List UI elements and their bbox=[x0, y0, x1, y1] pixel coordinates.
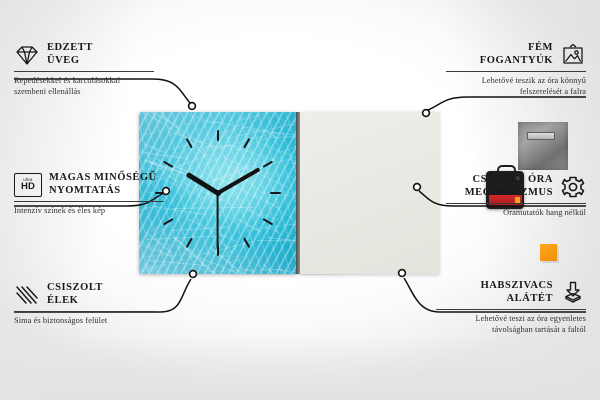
clock-tick-mark bbox=[217, 130, 219, 141]
callout-header: HABSZIVACS ALÁTÉT bbox=[436, 280, 586, 305]
callout-divider bbox=[14, 201, 164, 202]
callout-divider bbox=[14, 311, 154, 312]
callout-header: FÉM FOGANTYÚK bbox=[446, 42, 586, 67]
polished-edge-icon bbox=[14, 283, 40, 307]
callout-header: CSENDES ÓRA MECHANIZMUS bbox=[446, 174, 586, 199]
callout-subtitle: Repedésekkel és karcolásokkal szembeni e… bbox=[14, 76, 154, 97]
clock-tick-mark bbox=[185, 138, 192, 149]
callout-title: CSENDES ÓRA MECHANIZMUS bbox=[465, 174, 553, 199]
ultra-hd-icon: ultra HD bbox=[14, 173, 42, 197]
ultra-hd-icon-main: HD bbox=[21, 182, 35, 192]
clock-tick-mark bbox=[243, 138, 250, 149]
foam-pad bbox=[540, 244, 557, 261]
callout-header: CSISZOLT ÉLEK bbox=[14, 282, 154, 307]
callout-title: FÉM FOGANTYÚK bbox=[480, 42, 553, 67]
clock-tick-mark bbox=[162, 218, 173, 225]
wire-node-tempered-glass bbox=[189, 103, 196, 110]
clock-tick-mark bbox=[185, 238, 192, 249]
clock-tick bbox=[218, 192, 281, 194]
product-infographic: EDZETT ÜVEG Repedésekkel és karcolásokka… bbox=[0, 0, 600, 400]
clock-tick-mark bbox=[262, 161, 273, 168]
callout-header: EDZETT ÜVEG bbox=[14, 42, 154, 67]
callout-header: ultra HD MAGAS MINŐSÉGŰ NYOMTATÁS bbox=[14, 172, 164, 197]
clock-center-pin bbox=[215, 190, 221, 196]
callout-high-quality-print[interactable]: ultra HD MAGAS MINŐSÉGŰ NYOMTATÁS Intenz… bbox=[14, 172, 164, 217]
clock-tick-mark bbox=[243, 238, 250, 249]
clock-second-hand bbox=[217, 193, 219, 249]
callout-subtitle: Intenzív színek és éles kép bbox=[14, 206, 164, 217]
callout-title: CSISZOLT ÉLEK bbox=[47, 282, 103, 307]
callout-title: EDZETT ÜVEG bbox=[47, 42, 93, 67]
callout-subtitle: Sima és biztonságos felület bbox=[14, 316, 154, 327]
product-image bbox=[139, 112, 439, 274]
clock-tick bbox=[217, 130, 219, 193]
callout-subtitle: Lehetővé teszi az óra egyenletes távolsá… bbox=[436, 314, 586, 335]
callout-subtitle: Lehetővé teszik az óra könnyű felszerelé… bbox=[446, 76, 586, 97]
clock-tick-mark bbox=[162, 161, 173, 168]
callout-title: HABSZIVACS ALÁTÉT bbox=[481, 280, 553, 305]
callout-divider bbox=[446, 203, 586, 204]
clock-tick-mark bbox=[270, 192, 281, 194]
metal-hanger bbox=[518, 122, 568, 170]
picture-frame-hook-icon bbox=[560, 43, 586, 67]
callout-foam-pad[interactable]: HABSZIVACS ALÁTÉT Lehetővé teszi az óra … bbox=[436, 280, 586, 335]
diamond-icon bbox=[14, 43, 40, 67]
callout-divider bbox=[14, 71, 154, 72]
callout-divider bbox=[446, 71, 586, 72]
callout-divider bbox=[436, 309, 586, 310]
callout-title: MAGAS MINŐSÉGŰ NYOMTATÁS bbox=[49, 172, 157, 197]
callout-metal-handles[interactable]: FÉM FOGANTYÚK Lehetővé teszik az óra kön… bbox=[446, 42, 586, 97]
callout-polished-edges[interactable]: CSISZOLT ÉLEK Sima és biztonságos felüle… bbox=[14, 282, 154, 327]
foam-pad-arrow-icon bbox=[560, 281, 586, 305]
wire-metal-handles bbox=[428, 97, 586, 110]
hanger-slot bbox=[527, 132, 555, 140]
callout-silent-mechanism[interactable]: CSENDES ÓRA MECHANIZMUS Óramutatók hang … bbox=[446, 174, 586, 219]
clock-back-panel bbox=[300, 112, 439, 274]
gear-icon bbox=[560, 175, 586, 199]
callout-tempered-glass[interactable]: EDZETT ÜVEG Repedésekkel és karcolásokka… bbox=[14, 42, 154, 97]
callout-subtitle: Óramutatók hang nélkül bbox=[446, 208, 586, 219]
clock-tick-mark bbox=[262, 218, 273, 225]
